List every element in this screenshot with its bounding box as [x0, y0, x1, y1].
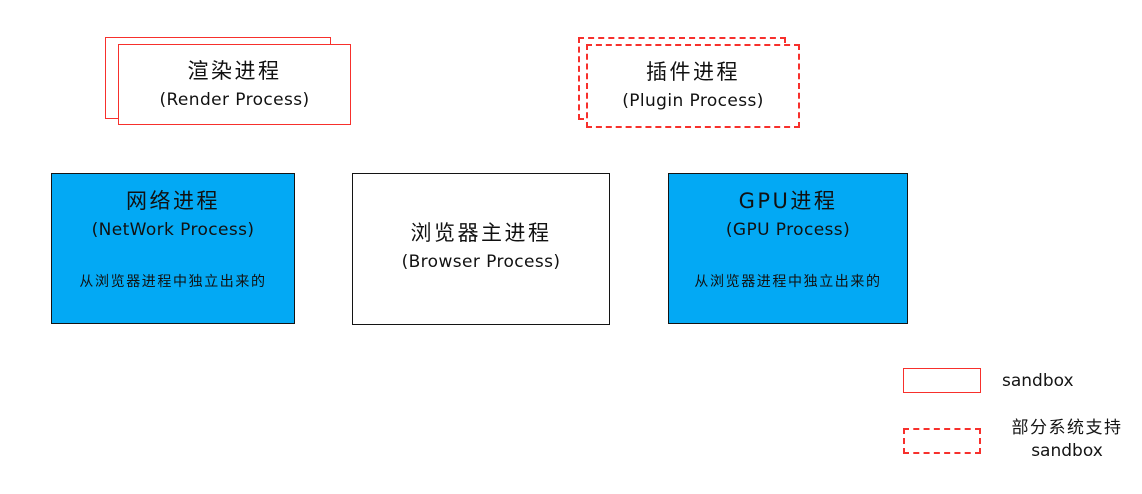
legend-sandbox-text: sandbox [1002, 370, 1074, 393]
gpu-process-title-cn: GPU进程 [739, 189, 838, 213]
network-process-title-en: (NetWork Process) [92, 220, 255, 240]
legend-label-sandbox: sandbox [1002, 370, 1074, 393]
process-box-plugin-process[interactable]: 插件进程 (Plugin Process) [586, 44, 800, 128]
diagram-canvas: 渲染进程 (Render Process) 插件进程 (Plugin Proce… [0, 0, 1142, 494]
gpu-process-note: 从浏览器进程中独立出来的 [694, 271, 881, 291]
process-box-gpu-process[interactable]: GPU进程 (GPU Process) 从浏览器进程中独立出来的 [668, 173, 908, 324]
browser-process-title-cn: 浏览器主进程 [411, 221, 552, 245]
legend-label-partial-sandbox: 部分系统支持 sandbox [1002, 417, 1132, 463]
gpu-process-title-en: (GPU Process) [726, 220, 850, 240]
legend-swatch-partial-sandbox [903, 428, 981, 454]
legend-swatch-sandbox [903, 368, 981, 393]
plugin-process-title-en: (Plugin Process) [622, 91, 764, 111]
network-process-note: 从浏览器进程中独立出来的 [79, 271, 266, 291]
browser-process-title-en: (Browser Process) [402, 252, 561, 272]
legend-partial-sandbox-text-en: sandbox [1002, 440, 1132, 463]
render-process-title-en: (Render Process) [159, 90, 309, 110]
process-box-network-process[interactable]: 网络进程 (NetWork Process) 从浏览器进程中独立出来的 [51, 173, 295, 324]
plugin-process-title-cn: 插件进程 [646, 60, 740, 84]
network-process-title-cn: 网络进程 [126, 189, 220, 213]
render-process-title-cn: 渲染进程 [188, 59, 282, 83]
process-box-browser-process[interactable]: 浏览器主进程 (Browser Process) [352, 173, 610, 325]
legend-partial-sandbox-text-cn: 部分系统支持 [1002, 417, 1132, 440]
process-box-render-process[interactable]: 渲染进程 (Render Process) [118, 44, 351, 125]
